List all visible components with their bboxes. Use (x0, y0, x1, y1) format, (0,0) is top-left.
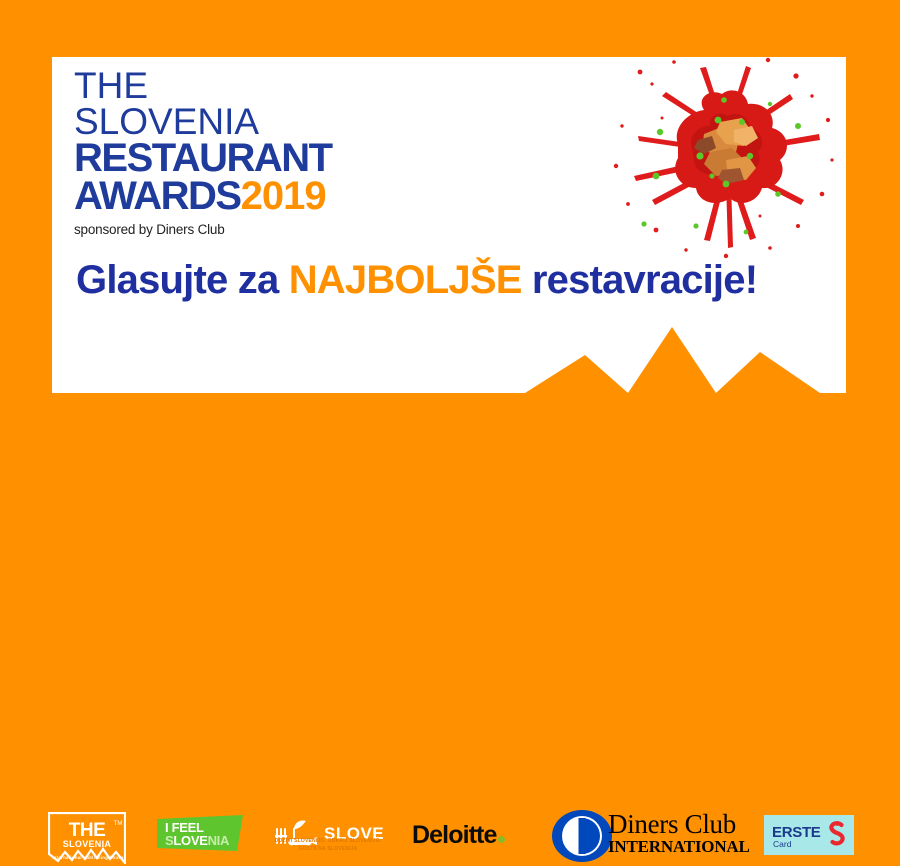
diners-club-text: Diners Club INTERNATIONAL (608, 811, 750, 856)
diners-club-name: Diners Club (608, 811, 750, 838)
award-logo-line-slovenia: SLOVENIA (74, 104, 374, 140)
deloitte-dot-icon (498, 836, 505, 843)
award-logo: THE SLOVENIA RESTAURANT AWARDS2019 spons… (74, 68, 374, 237)
award-logo-line-awards-year: AWARDS2019 (74, 177, 374, 215)
the-slovenia-word-the: THE (69, 820, 106, 841)
headline: Glasujte za NAJBOLJŠE restavracije! (76, 258, 757, 303)
award-logo-line-the: THE (74, 68, 374, 104)
slovenia-text: SLOVENIA (165, 833, 230, 848)
food-splash-image (600, 48, 850, 263)
award-logo-year: 2019 (241, 174, 326, 218)
headline-part2: restavracije! (522, 258, 758, 302)
sponsor-logo-deloitte[interactable]: Deloitte (412, 821, 505, 850)
the-slovenia-tagline: international publishing house (44, 855, 132, 860)
award-logo-awards-word: AWARDS (74, 174, 241, 218)
the-slovenia-tm: TM (114, 821, 123, 827)
headline-part1: Glasujte za (76, 258, 289, 302)
slovenia-tourism-subtitle: DOŽIVI SLOVENIJO. ODKRIJ SLOVENIJO. GOST… (268, 838, 388, 853)
sponsor-logo-erste-card[interactable]: ERSTE Card (764, 815, 854, 855)
slovenia-tourism-subtitle-line2: GOSTILNA SLOVENIJA (268, 846, 388, 854)
sponsor-bar: THE TM SLOVENIA international publishing… (0, 394, 900, 494)
sponsor-logo-i-feel-slovenia[interactable]: I FEEL SLOVENIA (155, 815, 245, 853)
deloitte-wordmark: Deloitte (412, 821, 496, 849)
award-logo-sponsor-note: sponsored by Diners Club (74, 222, 374, 237)
headline-accent: NAJBOLJŠE (289, 258, 522, 302)
erste-card-label: Card (773, 839, 791, 849)
diners-club-international: INTERNATIONAL (608, 838, 750, 856)
award-logo-line-restaurant: RESTAURANT (74, 139, 374, 177)
the-slovenia-word-slovenia: SLOVENIA (63, 839, 112, 849)
erste-s-symbol-icon (828, 821, 847, 847)
slovenia-tourism-subtitle-line1: DOŽIVI SLOVENIJO. ODKRIJ SLOVENIJO. (268, 838, 388, 846)
